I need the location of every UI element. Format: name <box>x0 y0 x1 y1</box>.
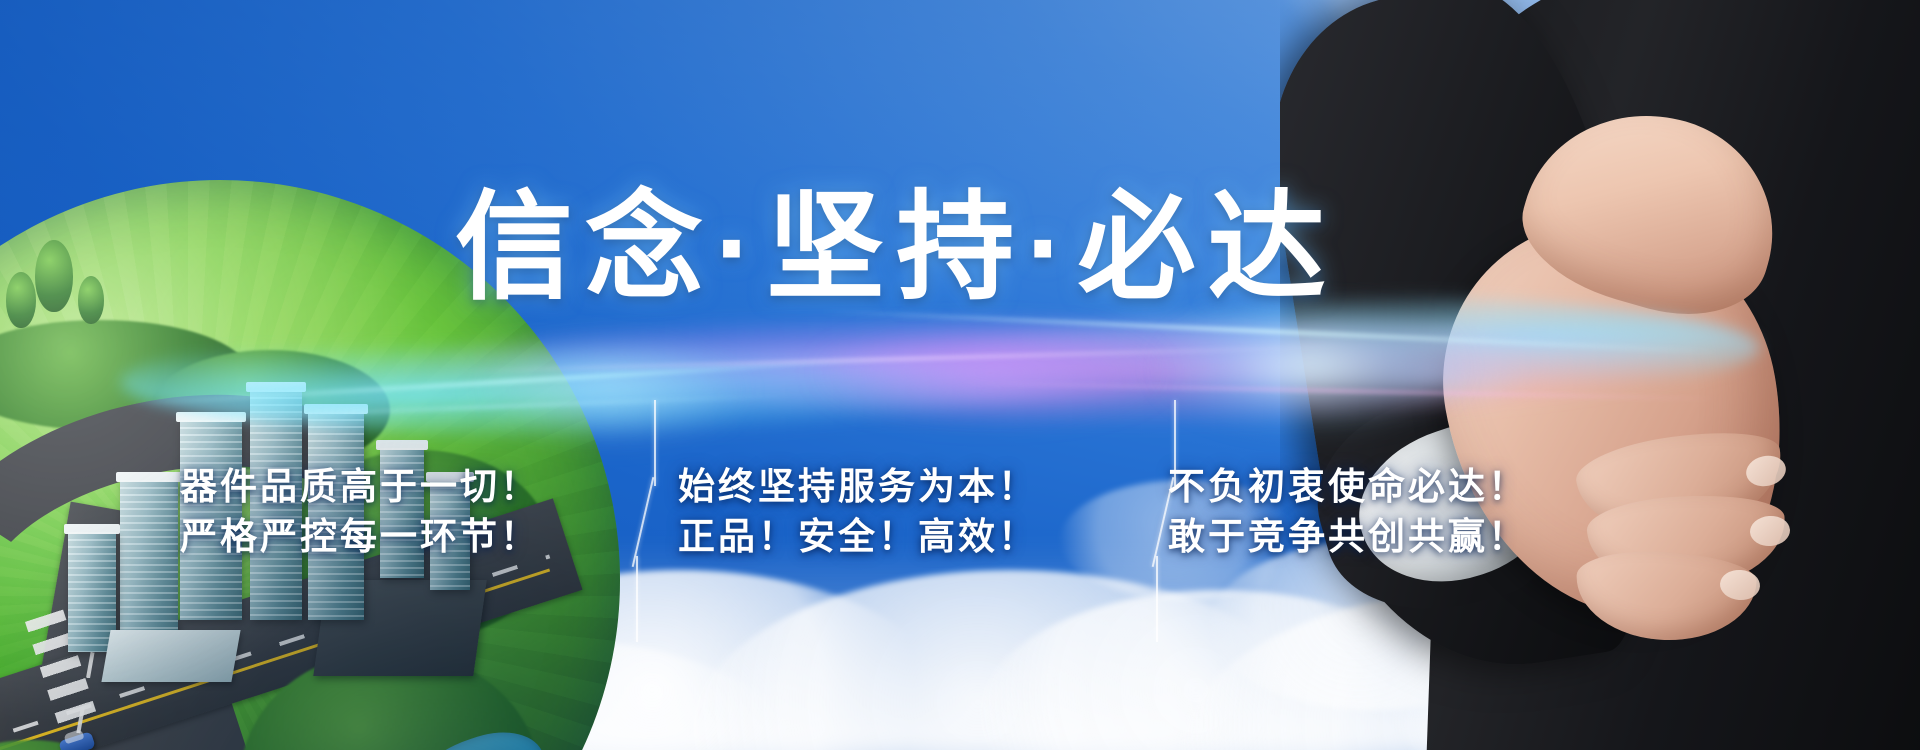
slogan-divider-1 <box>632 400 666 642</box>
building-roof <box>64 524 120 534</box>
slogan-divider-2 <box>1152 400 1186 642</box>
divider-segment-slanted <box>1152 477 1175 567</box>
building <box>120 480 178 655</box>
slogan-column-1: 器件品质高于一切！ 严格严控每一环节！ <box>180 462 650 563</box>
building-roof <box>304 404 368 414</box>
divider-segment-slanted <box>632 477 655 567</box>
building-roof <box>116 472 182 482</box>
slogan-line-1: 器件品质高于一切！ <box>180 462 650 512</box>
headline-slogan: 信念·坚持·必达 <box>455 186 1338 311</box>
handshake-hand-photo <box>1280 0 1920 750</box>
promotional-banner: on ⑫ 梵达电子 Fanda Electronics <box>0 0 1920 750</box>
slogan-line-2: 敢于竞争共创共赢！ <box>1168 512 1620 562</box>
divider-segment <box>1174 400 1176 486</box>
slogan-row: 器件品质高于一切！ 严格严控每一环节！ 始终坚持服务为本！ 正品！安全！高效！ … <box>180 462 1620 582</box>
building-roof <box>246 382 306 392</box>
tree <box>6 272 36 328</box>
slogan-line-1: 始终坚持服务为本！ <box>678 462 1140 512</box>
divider-segment <box>654 400 656 486</box>
low-building <box>101 630 240 682</box>
building-roof <box>176 412 246 422</box>
tree <box>78 276 104 324</box>
slogan-line-2: 正品！安全！高效！ <box>678 512 1140 562</box>
tree <box>35 240 73 312</box>
slogan-column-3: 不负初衷使命必达！ 敢于竞争共创共赢！ <box>1140 462 1620 563</box>
light-glow-over-hand <box>1280 330 1580 420</box>
slogan-line-2: 严格严控每一环节！ <box>180 512 650 562</box>
building-roof <box>376 440 428 450</box>
slogan-line-1: 不负初衷使命必达！ <box>1168 462 1620 512</box>
divider-segment <box>1156 556 1158 642</box>
divider-segment <box>636 556 638 642</box>
slogan-column-2: 始终坚持服务为本！ 正品！安全！高效！ <box>650 462 1140 563</box>
